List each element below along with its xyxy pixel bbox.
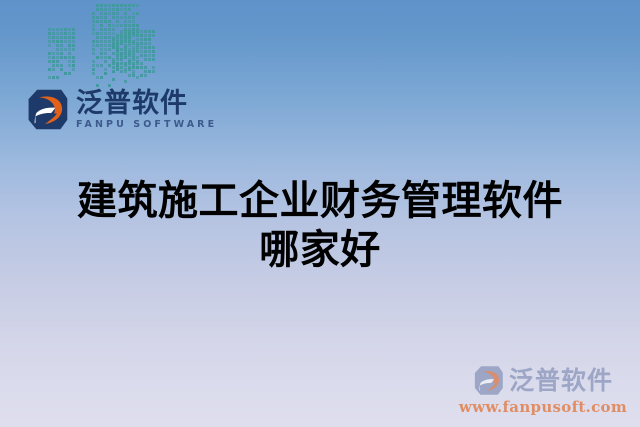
headline-line-1: 建筑施工企业财务管理软件 <box>0 177 640 226</box>
watermark: 泛普软件 www.fanpusoft.com <box>459 365 627 415</box>
headline-line-2: 哪家好 <box>0 226 640 275</box>
logo-en-name: FANPU SOFTWARE <box>76 120 217 130</box>
watermark-cn-name: 泛普软件 <box>509 368 613 393</box>
watermark-url: www.fanpusoft.com <box>459 400 627 415</box>
watermark-shield-icon <box>473 365 504 396</box>
fanpu-shield-icon <box>26 88 69 131</box>
logo-cn-name: 泛普软件 <box>76 90 217 118</box>
fanpu-logo: 泛普软件 FANPU SOFTWARE <box>26 88 217 131</box>
fanpu-wordmark: 泛普软件 FANPU SOFTWARE <box>76 90 217 131</box>
page-title: 建筑施工企业财务管理软件 哪家好 <box>0 177 640 275</box>
watermark-logo-row: 泛普软件 <box>473 365 613 396</box>
promo-banner: 泛普软件 FANPU SOFTWARE 建筑施工企业财务管理软件 哪家好 泛普软… <box>0 0 640 427</box>
pixel-city-skyline-icon <box>48 0 168 88</box>
